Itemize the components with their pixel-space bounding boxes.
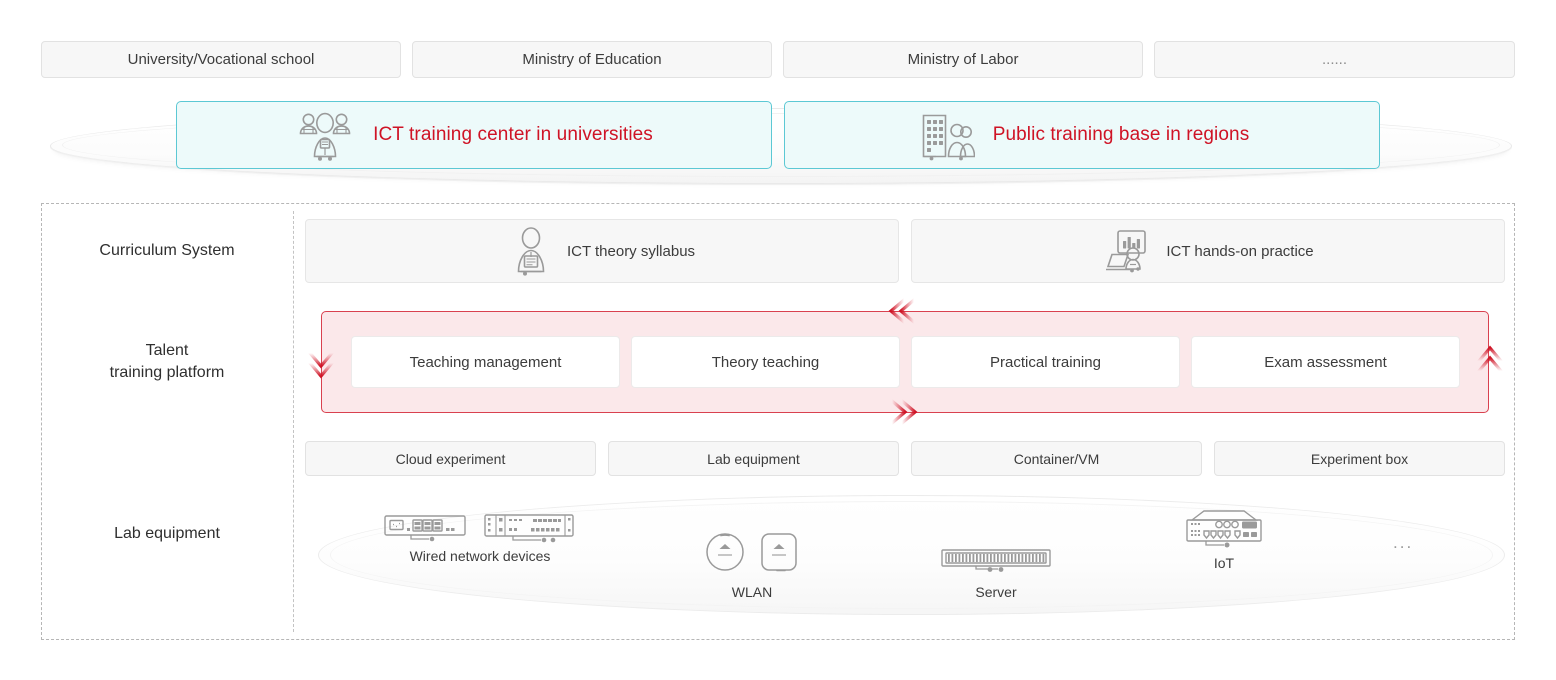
lab-resource-label: Container/VM [1014,451,1100,467]
equipment-more-dots: ... [1393,533,1413,553]
curriculum-item-practice[interactable]: ICT hands-on practice [911,219,1505,283]
gov-item-labor[interactable]: Ministry of Labor [783,41,1143,78]
switch-router-icon [383,512,577,544]
lab-resource-cloud-experiment[interactable]: Cloud experiment [305,441,596,476]
platform-item-label: Teaching management [410,354,562,371]
gov-item-label: University/Vocational school [128,51,315,68]
platform-item-label: Exam assessment [1264,354,1387,371]
equipment-wlan[interactable]: WLAN [703,530,801,600]
platform-item-label: Theory teaching [712,354,820,371]
gov-item-label: Ministry of Education [522,51,661,68]
curriculum-item-label: ICT hands-on practice [1166,243,1313,260]
layer-label-lab: Lab equipment [41,523,293,545]
platform-item-exam-assessment[interactable]: Exam assessment [1191,336,1460,388]
lab-resource-container-vm[interactable]: Container/VM [911,441,1202,476]
equipment-iot[interactable]: IoT [1178,509,1270,571]
equipment-label: IoT [1214,555,1234,571]
iot-gateway-icon [1178,509,1270,551]
equipment-label: Wired network devices [410,548,551,564]
rack-server-icon [940,548,1052,574]
lab-resource-label: Experiment box [1311,451,1408,467]
gov-item-label: Ministry of Labor [908,51,1019,68]
platform-item-practical-training[interactable]: Practical training [911,336,1180,388]
lab-resource-lab-equipment[interactable]: Lab equipment [608,441,899,476]
lab-resource-label: Lab equipment [707,451,800,467]
equipment-label: WLAN [732,584,772,600]
curriculum-item-label: ICT theory syllabus [567,243,695,260]
gov-item-university[interactable]: University/Vocational school [41,41,401,78]
lab-resource-label: Cloud experiment [396,451,506,467]
training-base-label: Public training base in regions [993,124,1250,146]
training-base-label: ICT training center in universities [373,124,653,146]
access-point-icon [703,530,801,574]
lab-resource-experiment-box[interactable]: Experiment box [1214,441,1505,476]
layer-label-platform: Talent training platform [41,340,293,384]
training-base-regions[interactable]: Public training base in regions [784,101,1380,169]
equipment-server[interactable]: Server [940,548,1052,600]
stack-frame-divider [293,211,294,632]
people-group-icon [295,109,355,161]
gov-item-education[interactable]: Ministry of Education [412,41,772,78]
layer-label-curriculum: Curriculum System [41,240,293,262]
gov-item-label: ...... [1322,51,1347,68]
equipment-label: Server [975,584,1016,600]
gov-item-more[interactable]: ...... [1154,41,1515,78]
diagram-canvas: University/Vocational school Ministry of… [0,0,1556,680]
building-people-icon [915,109,975,161]
platform-item-theory-teaching[interactable]: Theory teaching [631,336,900,388]
training-base-university[interactable]: ICT training center in universities [176,101,772,169]
layer-label-platform-line1: Talent [41,340,293,362]
layer-label-platform-line2: training platform [41,362,293,384]
platform-item-label: Practical training [990,354,1101,371]
curriculum-item-theory[interactable]: ICT theory syllabus [305,219,899,283]
lecturer-icon [509,226,553,276]
equipment-wired-network-devices[interactable]: Wired network devices [383,512,577,564]
platform-item-teaching-management[interactable]: Teaching management [351,336,620,388]
laptop-chart-icon [1102,228,1152,274]
